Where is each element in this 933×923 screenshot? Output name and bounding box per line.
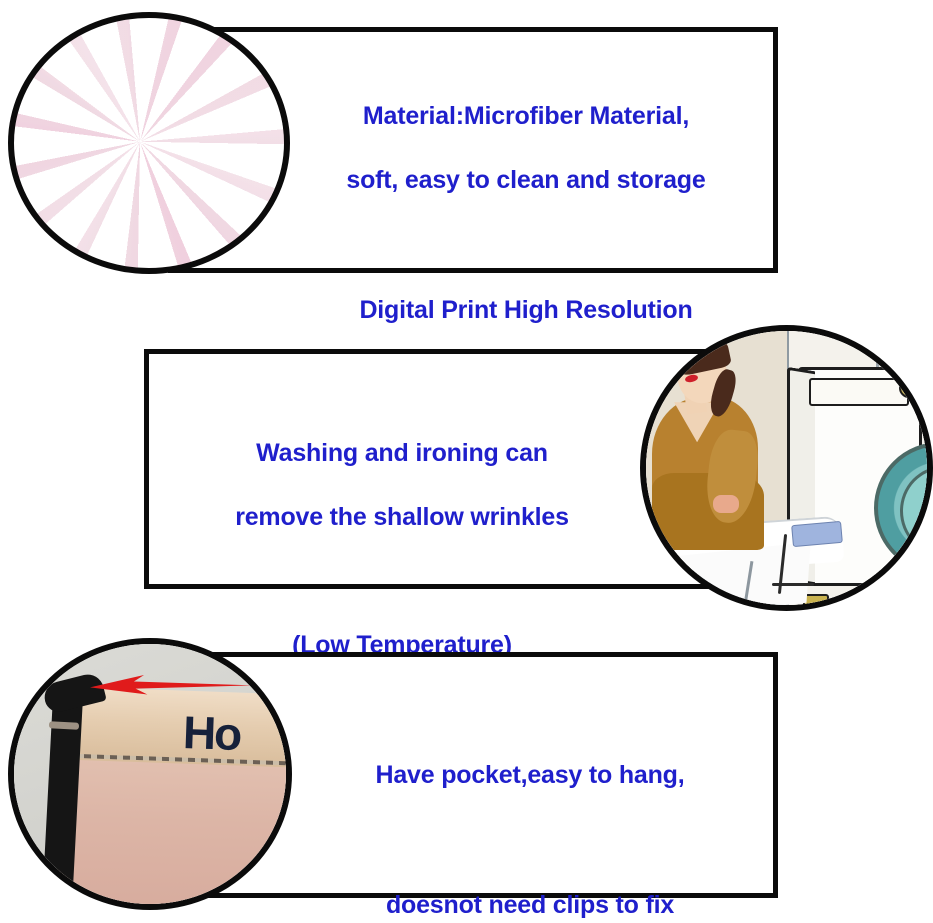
iron-cord bbox=[772, 583, 814, 586]
washer-control-panel bbox=[809, 378, 909, 407]
woman-ironing-washer-illustration bbox=[640, 325, 933, 611]
fabric-swirl-photo bbox=[8, 12, 290, 274]
washing-line-1: Washing and ironing can bbox=[152, 437, 652, 469]
curtain-rod-ring bbox=[49, 721, 79, 730]
washing-line-2: remove the shallow wrinkles bbox=[152, 501, 652, 533]
washer-foot bbox=[803, 594, 829, 605]
washer-foot bbox=[854, 594, 880, 605]
woman-hand bbox=[713, 495, 739, 513]
fabric-center bbox=[103, 108, 195, 188]
pocket-line-1: Have pocket,easy to hang, bbox=[300, 759, 760, 791]
text-spacer bbox=[286, 228, 766, 262]
text-spacer bbox=[300, 823, 760, 857]
washer-knob-icon bbox=[899, 378, 919, 398]
text-spacer bbox=[152, 565, 652, 597]
curtain-print-text: Ho bbox=[182, 705, 241, 761]
curtain-panel-body bbox=[55, 754, 286, 904]
washer-drum-glass bbox=[900, 466, 927, 556]
panel-material-text: Material:Microfiber Material, soft, easy… bbox=[286, 68, 766, 358]
red-arrow-icon bbox=[85, 675, 254, 701]
rod-pocket-photo: Ho bbox=[8, 638, 292, 910]
washer-door bbox=[874, 442, 927, 574]
panel-pocket-text: Have pocket,easy to hang, doesnot need c… bbox=[300, 727, 760, 923]
laundry-scene bbox=[646, 331, 927, 605]
pocket-line-2: doesnot need clips to fix bbox=[300, 889, 760, 921]
material-line-3: Digital Print High Resolution bbox=[286, 294, 766, 326]
infographic-page: Material:Microfiber Material, soft, easy… bbox=[0, 0, 933, 923]
material-line-1: Material:Microfiber Material, bbox=[286, 100, 766, 132]
material-line-2: soft, easy to clean and storage bbox=[286, 164, 766, 196]
iron-rest-pad bbox=[791, 521, 843, 547]
pocket-photo: Ho bbox=[14, 644, 286, 904]
